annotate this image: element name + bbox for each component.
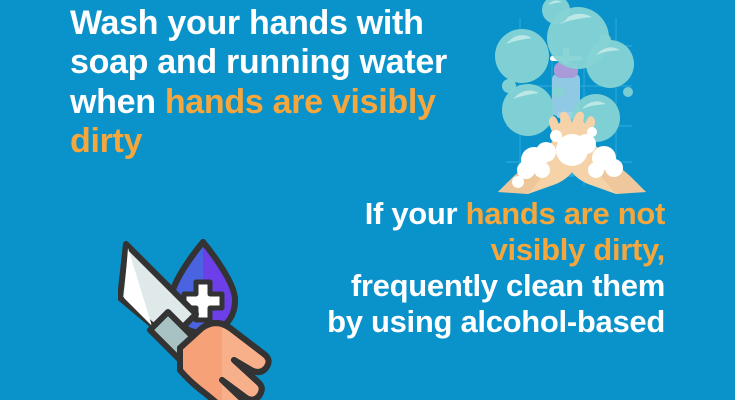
headline-top: Wash your hands with soap and running wa… [70, 4, 490, 162]
sanitizer-illustration [118, 236, 333, 400]
sanitizer-hand-icon [118, 236, 333, 400]
headline-bottom-line-1-plain: If your [365, 196, 466, 231]
headline-top-line-1: Wash your hands with [70, 4, 490, 43]
handwash-icon [492, 0, 652, 196]
headline-bottom-line-2-highlight: visibly dirty, [491, 232, 665, 267]
headline-top-line-1-plain: Wash your hands with [70, 4, 424, 42]
headline-top-line-2: soap and running water [70, 43, 490, 82]
headline-top-line-4: dirty [70, 122, 490, 161]
headline-top-line-3-plain: when [70, 83, 165, 121]
headline-top-line-3: when hands are visibly [70, 83, 490, 122]
handwash-illustration [492, 0, 652, 196]
headline-top-line-4-highlight: dirty [70, 122, 142, 160]
poster-canvas: Wash your hands with soap and running wa… [0, 0, 735, 400]
hand [180, 323, 269, 400]
headline-bottom-line-4-plain: by using alcohol-based [327, 304, 665, 339]
headline-bottom-line-1-highlight: hands are not [466, 196, 665, 231]
headline-top-line-2-plain: soap and running water [70, 43, 447, 81]
headline-bottom-line-3-plain: frequently clean them [351, 268, 665, 303]
headline-top-line-3-highlight: hands are visibly [165, 83, 436, 121]
headline-bottom-line-1: If your hands are not [185, 196, 665, 232]
